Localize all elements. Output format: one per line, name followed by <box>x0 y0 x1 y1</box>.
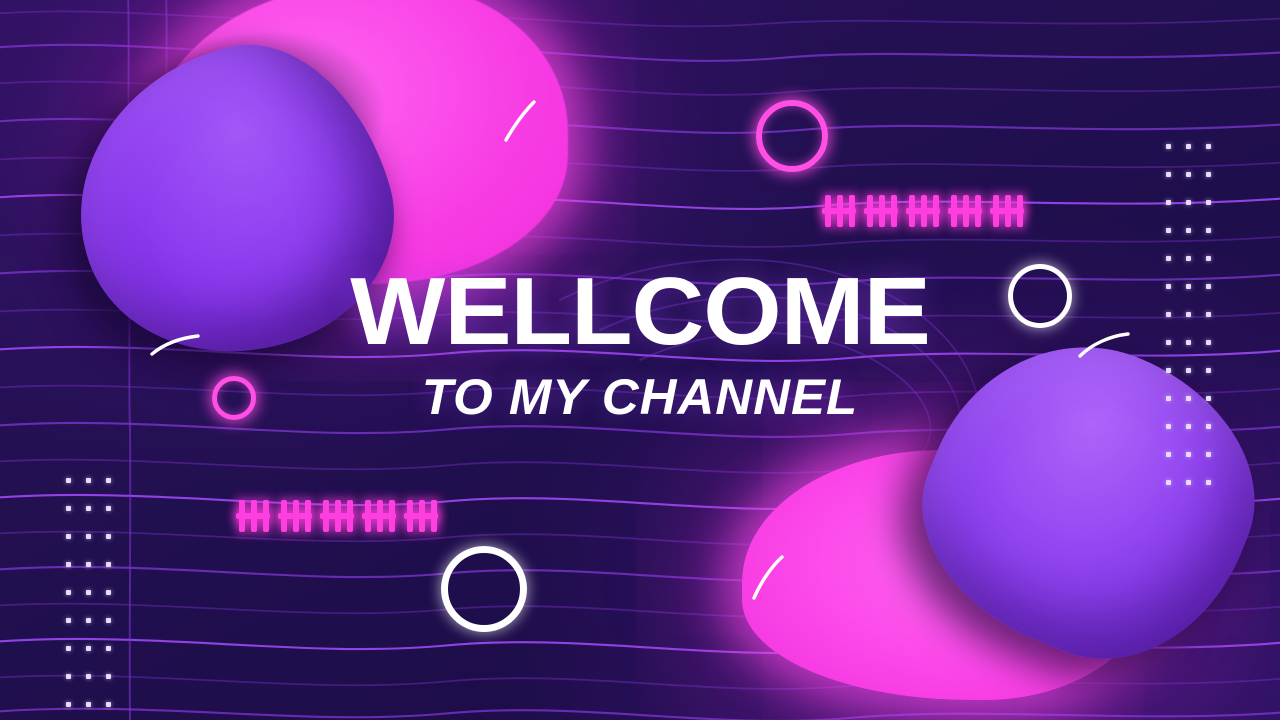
grid-dot <box>66 478 71 483</box>
grid-dot <box>1206 480 1211 485</box>
grid-dot <box>1166 200 1171 205</box>
grid-dot <box>1186 452 1191 457</box>
tally-tick <box>347 500 353 532</box>
grid-dot <box>86 646 91 651</box>
grid-dot <box>1186 172 1191 177</box>
grid-dot <box>1206 256 1211 261</box>
grid-dot <box>1166 424 1171 429</box>
grid-dot <box>106 534 111 539</box>
tally-tick <box>933 195 939 227</box>
tally-tick <box>837 195 843 227</box>
grid-dot <box>1206 172 1211 177</box>
grid-dot <box>66 534 71 539</box>
tally-tick <box>891 195 897 227</box>
grid-dot <box>106 646 111 651</box>
circle-outline-white-bottom <box>441 546 527 632</box>
grid-dot <box>1186 480 1191 485</box>
grid-dot <box>1186 144 1191 149</box>
grid-dot <box>1166 172 1171 177</box>
grid-dot <box>1186 200 1191 205</box>
grid-dot <box>86 506 91 511</box>
page-subtitle: TO MY CHANNEL <box>0 372 1280 422</box>
tally-tick <box>975 195 981 227</box>
grid-dot <box>106 618 111 623</box>
grid-dot <box>66 674 71 679</box>
grid-dot <box>106 562 111 567</box>
grid-dot <box>86 618 91 623</box>
grid-dot <box>86 534 91 539</box>
tally-tick <box>263 500 269 532</box>
grid-dot <box>86 590 91 595</box>
tally-tick <box>909 195 915 227</box>
circle-outline-pink-top <box>756 100 828 172</box>
tally-tick <box>323 500 329 532</box>
grid-dot <box>1206 452 1211 457</box>
grid-dot <box>1206 200 1211 205</box>
tally-tick <box>305 500 311 532</box>
tally-tick <box>879 195 885 227</box>
grid-dot <box>106 590 111 595</box>
grid-dot <box>106 674 111 679</box>
tally-tick <box>377 500 383 532</box>
tally-tick <box>389 500 395 532</box>
grid-dot <box>66 618 71 623</box>
grid-dot <box>1206 144 1211 149</box>
tally-tick <box>951 195 957 227</box>
grid-dot <box>86 562 91 567</box>
tally-tick <box>251 500 257 532</box>
page-title: WELLCOME <box>0 268 1280 356</box>
tally-tick <box>993 195 999 227</box>
grid-dot <box>1186 228 1191 233</box>
grid-dot <box>86 478 91 483</box>
tally-tick <box>867 195 873 227</box>
tally-tick <box>239 500 245 532</box>
tally-tick <box>335 500 341 532</box>
channel-intro-banner: WELLCOME TO MY CHANNEL <box>0 0 1280 720</box>
title-block: WELLCOME TO MY CHANNEL <box>0 268 1280 422</box>
tally-tick <box>849 195 855 227</box>
tally-tick <box>921 195 927 227</box>
grid-dot <box>66 646 71 651</box>
tally-tick <box>419 500 425 532</box>
grid-dot <box>1206 228 1211 233</box>
tally-tick <box>407 500 413 532</box>
tally-tick <box>293 500 299 532</box>
grid-dot <box>66 562 71 567</box>
tally-tick <box>963 195 969 227</box>
tally-tick <box>1005 195 1011 227</box>
tally-tick <box>825 195 831 227</box>
tally-tick <box>1017 195 1023 227</box>
arc-accent-top-left <box>496 96 544 148</box>
grid-dot <box>66 702 71 707</box>
grid-dot <box>1166 452 1171 457</box>
grid-dot <box>1166 480 1171 485</box>
grid-dot <box>106 478 111 483</box>
grid-dot <box>1206 424 1211 429</box>
grid-dot <box>86 702 91 707</box>
grid-dot <box>1166 256 1171 261</box>
grid-dot <box>86 674 91 679</box>
grid-dot <box>106 506 111 511</box>
tally-tick <box>431 500 437 532</box>
grid-dot <box>1166 144 1171 149</box>
grid-dot <box>1186 256 1191 261</box>
tally-tick <box>365 500 371 532</box>
arc-accent-bottom-center <box>746 552 790 604</box>
grid-dot <box>66 590 71 595</box>
grid-dot <box>106 702 111 707</box>
grid-dot <box>1166 228 1171 233</box>
grid-dot <box>1186 424 1191 429</box>
grid-dot <box>66 506 71 511</box>
tally-tick <box>281 500 287 532</box>
